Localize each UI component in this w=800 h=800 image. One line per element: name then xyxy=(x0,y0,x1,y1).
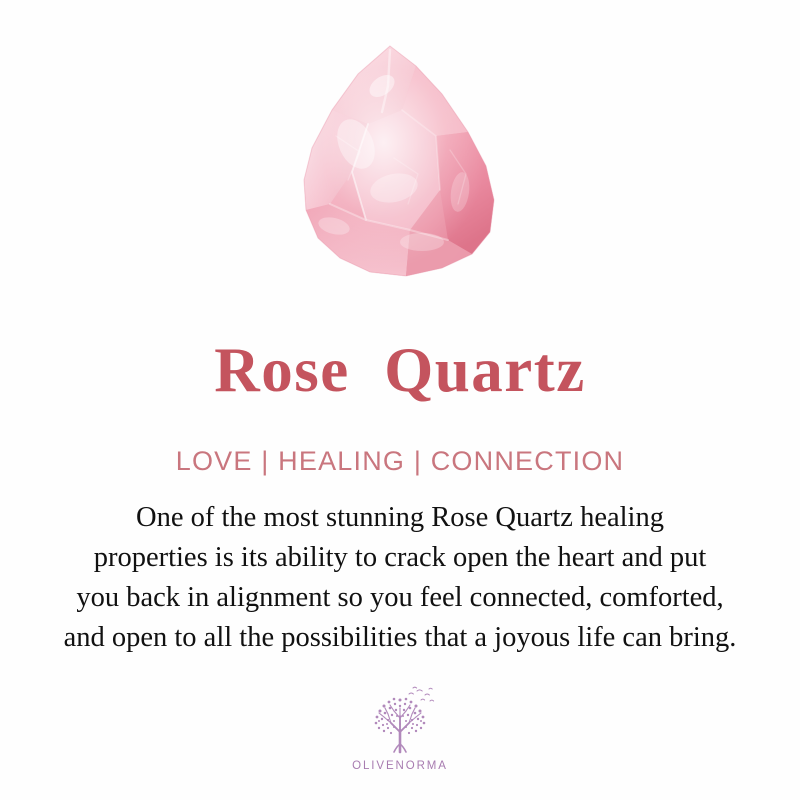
page-title: Rose Quartz xyxy=(0,337,800,403)
description-line: and open to all the possibilities that a… xyxy=(20,618,780,658)
description-line: you back in alignment so you feel connec… xyxy=(20,578,780,618)
logo-birds xyxy=(409,687,434,701)
description-line: One of the most stunning Rose Quartz hea… xyxy=(20,498,780,538)
rose-quartz-product-card: Rose Quartz LOVE | HEALING | CONNECTION … xyxy=(0,0,800,800)
description-text: One of the most stunning Rose Quartz hea… xyxy=(20,498,780,658)
crystal-inner-glow xyxy=(304,46,494,276)
product-image xyxy=(0,40,800,290)
tree-of-life-with-birds-icon xyxy=(361,686,439,758)
description-line: properties is its ability to crack open … xyxy=(20,538,780,578)
brand-logo: OLIVENORMA xyxy=(0,686,800,772)
rose-quartz-crystal-icon xyxy=(290,40,510,280)
brand-name: OLIVENORMA xyxy=(352,760,448,772)
keyword-subtitle: LOVE | HEALING | CONNECTION xyxy=(0,446,800,477)
